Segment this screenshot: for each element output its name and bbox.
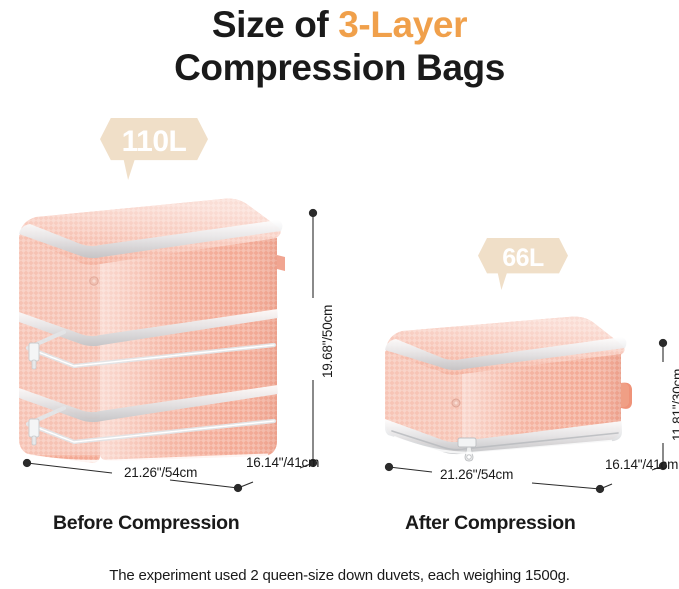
- large-bag-width-label: 21.26"/54cm: [124, 465, 197, 480]
- small-bag-width-label: 21.26"/54cm: [440, 467, 513, 482]
- large-compression-bag: [6, 193, 286, 463]
- small-bag-illustration: [372, 313, 634, 465]
- small-bag-depth-label: 16.14"/41cm: [605, 457, 678, 472]
- large-bag-depth-label: 16.14"/41cm: [246, 455, 319, 470]
- side-handle-tab[interactable]: [621, 383, 632, 409]
- caption-after-compression: After Compression: [405, 512, 575, 535]
- capacity-badge-small: 66L: [478, 238, 568, 290]
- title-line-2: Compression Bags: [0, 47, 679, 90]
- large-bag-height-label: 19.68"/50cm: [320, 305, 335, 378]
- title-line-1: Size of 3-Layer: [0, 4, 679, 47]
- small-compression-bag: [372, 313, 634, 465]
- capacity-badge-large-label: 110L: [122, 125, 187, 159]
- capacity-badge-small-label: 66L: [502, 244, 544, 273]
- footnote-text: The experiment used 2 queen-size down du…: [0, 567, 679, 584]
- title-accent: 3-Layer: [338, 4, 467, 45]
- large-bag-illustration: [6, 193, 286, 463]
- small-bag-height-label: 11.81"/30cm: [670, 369, 679, 441]
- page-title: Size of 3-Layer Compression Bags: [0, 4, 679, 90]
- capacity-badge-large: 110L: [100, 118, 208, 180]
- caption-before-compression: Before Compression: [53, 512, 239, 535]
- title-prefix: Size of: [212, 4, 338, 45]
